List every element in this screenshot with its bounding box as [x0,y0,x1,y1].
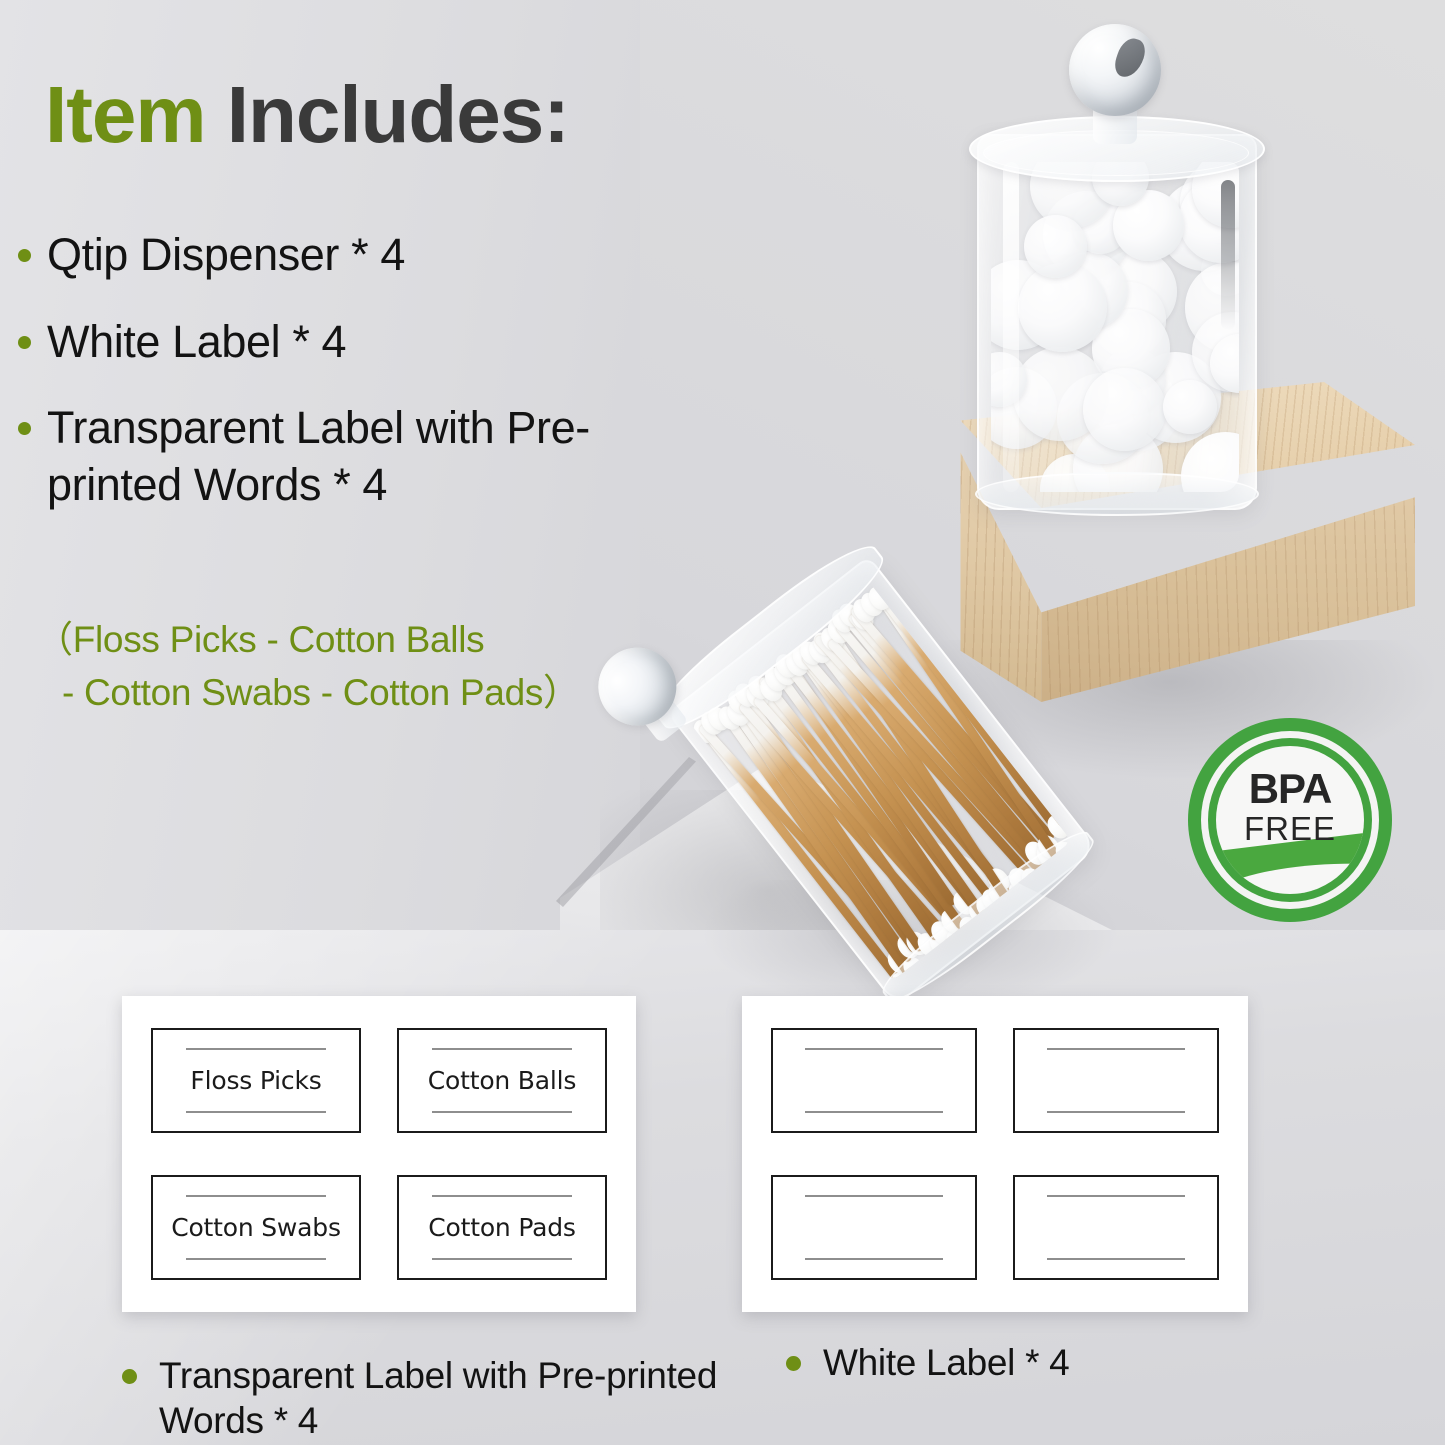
list-item: White Label * 4 [18,314,678,371]
caption-text: Transparent Label with Pre-printed Words… [159,1353,722,1443]
label-card-text: Floss Picks [190,1066,321,1095]
label-card: Cotton Pads [397,1175,607,1281]
jar-highlight [1003,162,1019,492]
label-card [771,1175,978,1281]
list-item: Transparent Label with Pre-printed Words… [18,400,678,513]
label-card: Cotton Swabs [151,1175,361,1281]
label-rule-bottom [805,1258,943,1260]
caption-transparent-label: Transparent Label with Pre-printed Words… [122,1353,722,1443]
label-card: Cotton Balls [397,1028,607,1134]
label-words-note-line2: - Cotton Swabs - Cotton Pads） [62,666,676,719]
cotton-ball [1083,368,1166,451]
bullet-dot-icon [786,1356,801,1371]
white-label-sheet [742,996,1248,1312]
bpa-free-badge-icon: BPA FREE [1188,718,1392,922]
jar-reflection [1221,180,1235,330]
list-item-label: White Label * 4 [47,314,346,371]
label-rule-bottom [186,1111,326,1113]
transparent-label-sheet: Floss Picks Cotton Balls Cotton Swabs Co… [122,996,636,1312]
badge-face: BPA FREE [1216,746,1364,894]
cotton-balls-fill [991,162,1239,492]
label-words-note-line1: （Floss Picks - Cotton Balls [36,619,484,660]
title-rest: Includes: [206,70,569,159]
label-rule-bottom [1047,1258,1185,1260]
label-rule-top [186,1195,326,1197]
label-rule-top [1047,1195,1185,1197]
caption-text: White Label * 4 [823,1340,1069,1385]
bullet-dot-icon [18,249,31,262]
title-accent-word: Item [45,70,206,159]
label-rule-bottom [432,1111,572,1113]
bullet-dot-icon [18,422,31,435]
page-title: Item Includes: [45,75,569,155]
label-card: Floss Picks [151,1028,361,1134]
label-rule-top [186,1048,326,1050]
list-item-label: Transparent Label with Pre-printed Words… [47,400,678,513]
label-card-text: Cotton Swabs [171,1213,341,1242]
caption-white-label: White Label * 4 [786,1340,1306,1385]
list-item-label: Qtip Dispenser * 4 [47,227,405,284]
bullet-dot-icon [18,336,31,349]
label-card [1013,1175,1220,1281]
badge-line-1: BPA [1216,768,1364,810]
label-rule-top [1047,1048,1185,1050]
label-rule-top [432,1048,572,1050]
label-rule-bottom [432,1258,572,1260]
label-rule-top [805,1048,943,1050]
bullet-dot-icon [122,1369,137,1384]
label-card-text: Cotton Balls [428,1066,576,1095]
label-rule-top [432,1195,572,1197]
label-card [1013,1028,1220,1134]
label-rule-bottom [1047,1111,1185,1113]
cotton-ball [1163,380,1217,434]
list-item: Qtip Dispenser * 4 [18,227,678,284]
jar-base-ring [975,472,1259,516]
infographic-canvas: Item Includes: Qtip Dispenser * 4 White … [0,0,1445,1445]
label-rule-bottom [186,1258,326,1260]
item-includes-list: Qtip Dispenser * 4 White Label * 4 Trans… [18,227,678,544]
cotton-ball-jar [965,12,1265,512]
label-rule-top [805,1195,943,1197]
label-card-text: Cotton Pads [428,1213,575,1242]
badge-line-2: FREE [1216,812,1364,845]
label-card [771,1028,978,1134]
label-rule-bottom [805,1111,943,1113]
label-words-note: （Floss Picks - Cotton Balls - Cotton Swa… [36,613,676,720]
